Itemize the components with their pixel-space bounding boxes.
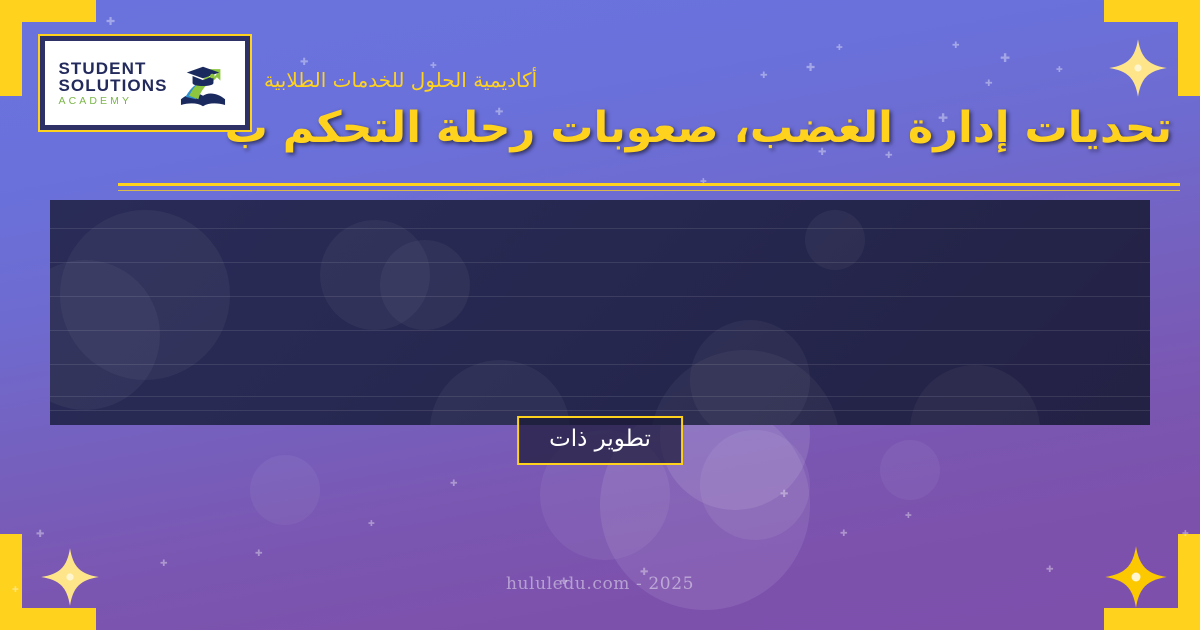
sparkle-dot: ✚ [760, 72, 768, 81]
sparkle-dot: ✚ [106, 16, 115, 27]
logo-line-1: STUDENT [58, 60, 146, 77]
sparkle-dot: ✚ [952, 42, 960, 51]
sparkle-dot: ✚ [300, 58, 308, 68]
footer-credit: hululedu.com - 2025 [0, 574, 1200, 594]
card-decor-bubble [50, 260, 160, 410]
corner-bracket-top-right [1104, 0, 1200, 96]
card-decor-bubble [650, 350, 840, 425]
sparkle-dot: ✚ [985, 80, 993, 89]
hero-card [50, 200, 1150, 425]
sparkle-dot: ✚ [255, 550, 263, 559]
card-decor-bubble [690, 320, 810, 425]
title-underline-thick [118, 183, 1180, 186]
logo-wordmark: STUDENT SOLUTIONS ACADEMY [58, 60, 167, 107]
sparkle-dot: ✚ [1182, 530, 1189, 538]
logo-line-3: ACADEMY [58, 96, 132, 107]
logo-line-2: SOLUTIONS [58, 77, 167, 94]
sparkle-dot: ✚ [836, 44, 843, 52]
sparkle-dot: ✚ [368, 520, 375, 528]
decor-bubble [700, 430, 810, 540]
sparkle-dot: ✚ [450, 480, 458, 489]
category-badge[interactable]: تطوير ذات [517, 416, 683, 465]
card-decor-bubble [60, 210, 230, 380]
sparkle-dot: ✚ [840, 530, 848, 539]
sparkle-dot: ✚ [1056, 66, 1063, 74]
brand-logo[interactable]: STUDENT SOLUTIONS ACADEMY [38, 34, 252, 132]
sparkle-dot: ✚ [160, 560, 168, 569]
logo-plate: STUDENT SOLUTIONS ACADEMY [45, 41, 245, 125]
decor-bubble [250, 455, 320, 525]
graduation-cap-book-arrow-icon [174, 54, 232, 112]
sparkle-dot: ✚ [36, 530, 44, 540]
card-decor-bubble [910, 365, 1040, 425]
card-hairlines [50, 200, 1150, 425]
brand-arabic-name: أكاديمية الحلول للخدمات الطلابية [264, 68, 537, 92]
decor-bubble [880, 440, 940, 500]
sparkle-dot: ✚ [780, 490, 788, 500]
title-underline-thin [118, 190, 1180, 191]
sparkle-dot: ✚ [806, 62, 815, 73]
title-underline [118, 183, 1180, 191]
card-decor-bubble [320, 220, 430, 330]
sparkle-dot: ✚ [905, 512, 912, 520]
sparkle-dot: ✚ [1000, 52, 1010, 64]
card-decor-bubble [380, 240, 470, 330]
card-decor-bubble [805, 210, 865, 270]
sparkle-star-top-right [1108, 38, 1168, 98]
social-share-poster: ✚ ✚ ✚ ✚ ✚ ✚ ✚ ✚ ✚ ✚ ✚ ✚ ✚ ✚ ✚ ✚ ✚ ✚ ✚ ✚ … [0, 0, 1200, 630]
